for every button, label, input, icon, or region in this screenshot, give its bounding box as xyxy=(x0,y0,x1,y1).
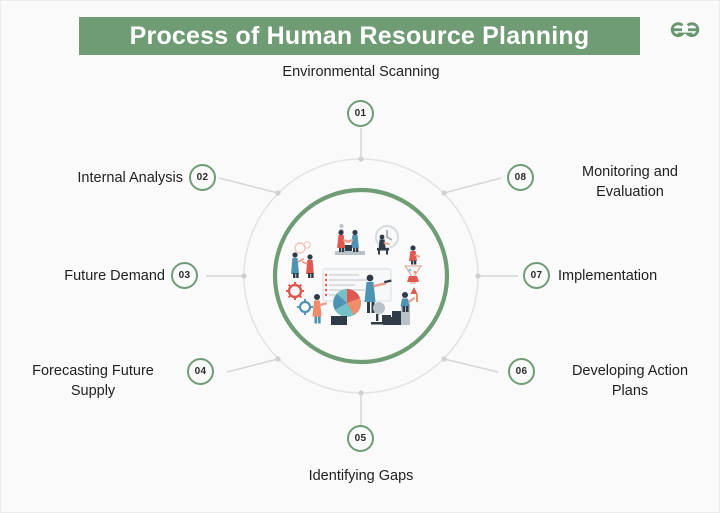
step-badge-08[interactable]: 08 xyxy=(507,164,534,191)
step-label-future-demand: Future Demand xyxy=(1,267,165,287)
step-label-internal-analysis: Internal Analysis xyxy=(1,169,183,189)
hr-planning-illustration: .sk{fill:#e9a08e}.dk{fill:#2f3b47}.rd{fi… xyxy=(283,215,439,337)
step-label-developing-action-plans: Developing Action Plans xyxy=(542,362,718,401)
infographic-canvas: Process of Human Resource Planning xyxy=(0,0,720,513)
step-label-monitoring-and-evaluation: Monitoring and Evaluation xyxy=(541,163,719,202)
step-label-forecasting-future-supply: Forecasting Future Supply xyxy=(5,362,181,401)
step-badge-03[interactable]: 03 xyxy=(171,262,198,289)
illus-workstation-group xyxy=(371,302,391,325)
step-badge-01[interactable]: 01 xyxy=(347,100,374,127)
step-label-implementation: Implementation xyxy=(558,267,718,287)
illus-funnel-group xyxy=(405,245,421,283)
step-label-environmental-scanning: Environmental Scanning xyxy=(201,63,521,83)
step-label-identifying-gaps: Identifying Gaps xyxy=(201,467,521,487)
step-badge-06[interactable]: 06 xyxy=(508,358,535,385)
illus-handshake-group xyxy=(335,224,365,255)
illus-discussion-group xyxy=(291,242,314,278)
illus-clock-desk-group xyxy=(376,226,398,255)
step-badge-05[interactable]: 05 xyxy=(347,425,374,452)
step-badge-02[interactable]: 02 xyxy=(189,164,216,191)
step-badge-07[interactable]: 07 xyxy=(523,262,550,289)
step-badge-04[interactable]: 04 xyxy=(187,358,214,385)
illus-gears-group xyxy=(286,282,313,315)
